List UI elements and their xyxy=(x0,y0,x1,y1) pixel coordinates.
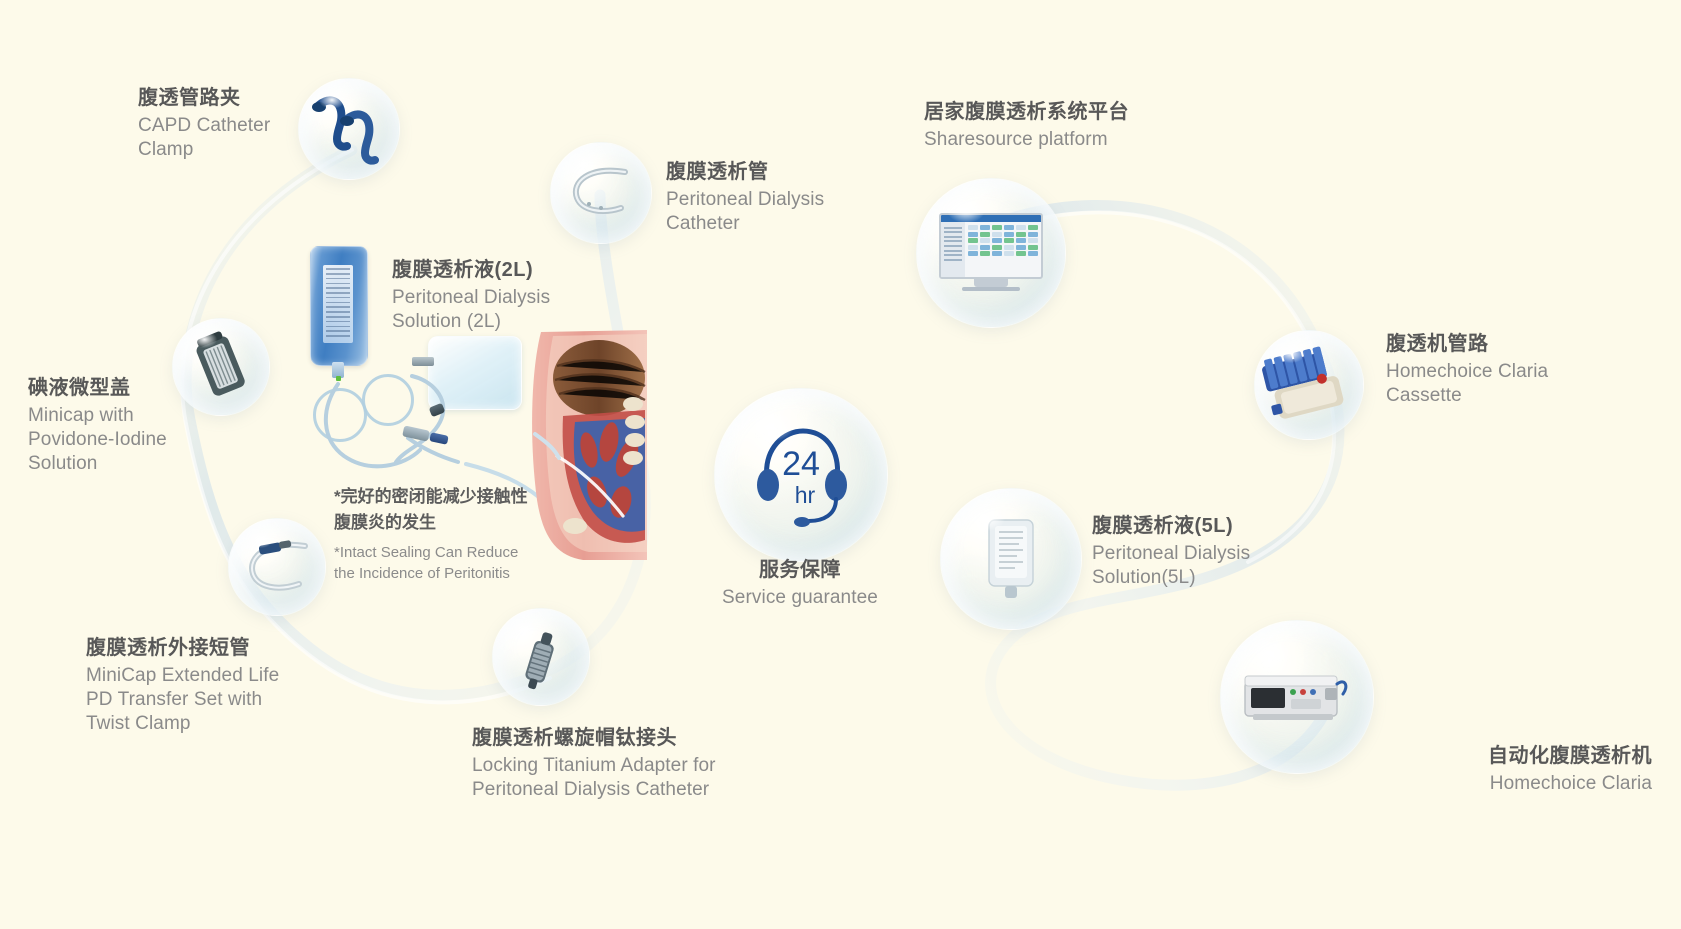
label-pd-solution-5l: 腹膜透析液(5L) Peritoneal Dialysis Solution(5… xyxy=(1092,514,1332,590)
label-cn: 腹膜透析液(5L) xyxy=(1092,514,1332,540)
label-en: Peritoneal Dialysis Solution (2L) xyxy=(392,286,612,335)
footnote-en: *Intact Sealing Can Reduce the Incidence… xyxy=(334,542,574,584)
catheter-icon xyxy=(551,143,651,243)
bubble-pd-solution-5l[interactable] xyxy=(940,488,1082,630)
label-en: Sharesource platform xyxy=(924,128,1224,152)
label-cn: 腹膜透析外接短管 xyxy=(86,636,312,662)
footnote-intact-sealing: *完好的密闭能减少接触性 腹膜炎的发生 *Intact Sealing Can … xyxy=(334,484,574,584)
label-cn: 腹膜透析液(2L) xyxy=(392,258,612,284)
bubble-peritoneal-dialysis-catheter[interactable] xyxy=(550,142,652,244)
label-en: Peritoneal Dialysis Solution(5L) xyxy=(1092,542,1332,591)
label-homechoice-claria-cassette: 腹透机管路 Homechoice Claria Cassette xyxy=(1386,332,1646,408)
label-homechoice-claria: 自动化腹膜透析机 Homechoice Claria xyxy=(1296,744,1652,796)
label-cn: 自动化腹膜透析机 xyxy=(1296,744,1652,770)
drain-bag-port xyxy=(412,357,434,366)
label-en: Locking Titanium Adapter for Peritoneal … xyxy=(472,754,772,803)
label-pd-solution-2l: 腹膜透析液(2L) Peritoneal Dialysis Solution (… xyxy=(392,258,612,334)
badge-unit-hr: hr xyxy=(795,482,816,508)
solution-bag-5l-icon xyxy=(941,489,1081,629)
label-en: Service guarantee xyxy=(660,586,940,610)
headset-24hr-icon: 24 hr xyxy=(715,389,887,561)
label-en: MiniCap Extended Life PD Transfer Set wi… xyxy=(86,664,312,737)
bubble-service-guarantee[interactable]: 24 hr xyxy=(714,388,888,562)
label-en: Peritoneal Dialysis Catheter xyxy=(666,188,866,237)
badge-number-24: 24 xyxy=(782,445,820,483)
label-cn: 腹膜透析螺旋帽钛接头 xyxy=(472,726,772,752)
label-service-guarantee: 服务保障 Service guarantee xyxy=(660,558,940,610)
label-cn: 腹透管路夹 xyxy=(138,86,318,112)
label-cn: 碘液微型盖 xyxy=(28,376,188,402)
label-minicap-transfer-set: 腹膜透析外接短管 MiniCap Extended Life PD Transf… xyxy=(86,636,312,737)
pd-system-diagram: 腹透管路夹 CAPD Catheter Clamp 腹膜透析管 Peritone… xyxy=(0,0,1681,929)
label-en: CAPD Catheter Clamp xyxy=(138,114,318,163)
label-cn: 腹膜透析管 xyxy=(666,160,866,186)
bubble-sharesource-platform[interactable] xyxy=(916,178,1066,328)
cassette-icon xyxy=(1255,331,1363,439)
label-cn: 服务保障 xyxy=(660,558,940,584)
label-cn: 居家腹膜透析系统平台 xyxy=(924,100,1224,126)
label-minicap-povidone-iodine: 碘液微型盖 Minicap with Povidone-Iodine Solut… xyxy=(28,376,188,477)
label-locking-titanium-adapter: 腹膜透析螺旋帽钛接头 Locking Titanium Adapter for … xyxy=(472,726,772,802)
label-cn: 腹透机管路 xyxy=(1386,332,1646,358)
label-peritoneal-dialysis-catheter: 腹膜透析管 Peritoneal Dialysis Catheter xyxy=(666,160,866,236)
label-en: Minicap with Povidone-Iodine Solution xyxy=(28,404,188,477)
monitor-icon xyxy=(917,179,1065,327)
bubble-homechoice-claria-cassette[interactable] xyxy=(1254,330,1364,440)
pd-solution-2l-bag xyxy=(310,246,368,366)
label-capd-catheter-clamp: 腹透管路夹 CAPD Catheter Clamp xyxy=(138,86,318,162)
bag-label xyxy=(323,265,353,343)
label-en: Homechoice Claria Cassette xyxy=(1386,360,1646,409)
titanium-adapter-icon xyxy=(493,609,589,705)
footnote-cn: *完好的密闭能减少接触性 腹膜炎的发生 xyxy=(334,484,574,535)
label-sharesource-platform: 居家腹膜透析系统平台 Sharesource platform xyxy=(924,100,1224,152)
label-en: Homechoice Claria xyxy=(1296,772,1652,796)
bubble-locking-titanium-adapter[interactable] xyxy=(492,608,590,706)
